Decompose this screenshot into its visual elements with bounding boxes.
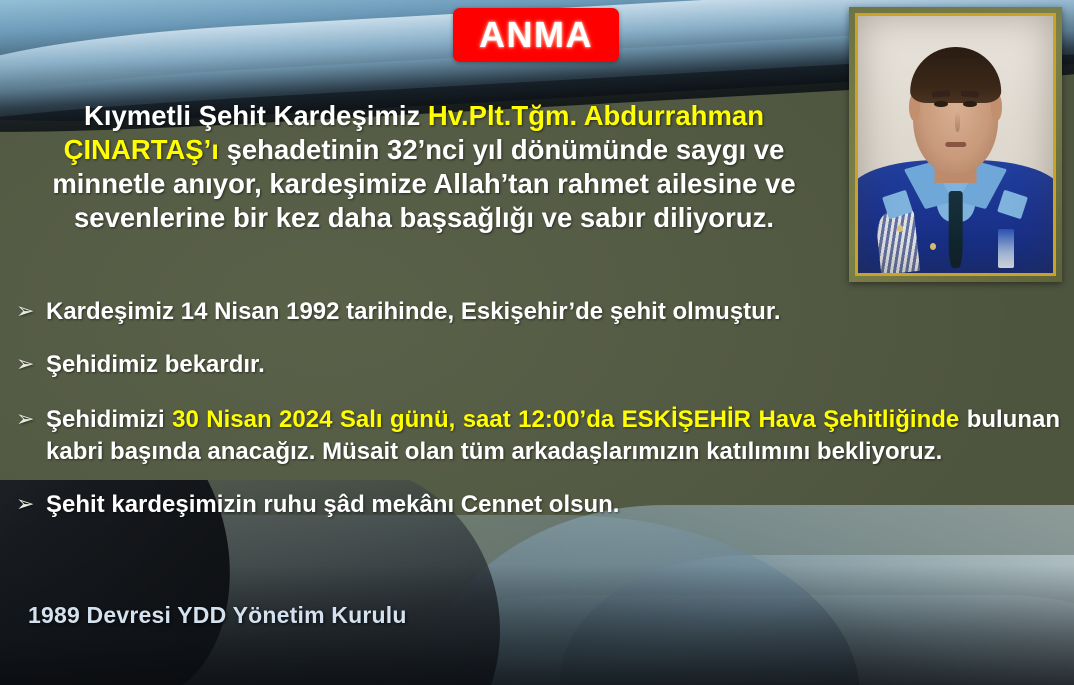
anma-badge: ANMA — [453, 8, 619, 62]
anma-badge-label: ANMA — [479, 17, 593, 53]
footer-signature: 1989 Devresi YDD Yönetim Kurulu — [28, 602, 407, 629]
lead-text-part1: Kıymetli Şehit Kardeşimiz — [84, 100, 428, 131]
portrait-photo — [858, 16, 1053, 273]
ceremony-details-highlight: 30 Nisan 2024 Salı günü, saat 12:00’da E… — [172, 406, 959, 433]
memorial-lead-paragraph: Kıymetli Şehit Kardeşimiz Hv.Plt.Tğm. Ab… — [44, 99, 804, 235]
portrait-frame — [849, 7, 1062, 282]
list-item-text: Şehidimiz bekardır. — [46, 351, 265, 378]
arrow-bullet-icon: ➢ — [16, 489, 34, 519]
list-item: ➢ Kardeşimiz 14 Nisan 1992 tarihinde, Es… — [16, 296, 1060, 327]
list-item-text: Kardeşimiz 14 Nisan 1992 tarihinde, Eski… — [46, 298, 781, 325]
arrow-bullet-icon: ➢ — [16, 296, 34, 326]
arrow-bullet-icon: ➢ — [16, 404, 34, 434]
list-item-text-part1: Şehidimizi — [46, 406, 172, 433]
arrow-bullet-icon: ➢ — [16, 349, 34, 379]
list-item-text: Şehit kardeşimizin ruhu şâd mekânı Cenne… — [46, 491, 619, 518]
list-item: ➢ Şehidimiz bekardır. — [16, 349, 1060, 380]
list-item: ➢ Şehit kardeşimizin ruhu şâd mekânı Cen… — [16, 489, 1060, 520]
memorial-bullet-list: ➢ Kardeşimiz 14 Nisan 1992 tarihinde, Es… — [16, 296, 1060, 520]
list-item: ➢ Şehidimizi 30 Nisan 2024 Salı günü, sa… — [16, 404, 1060, 466]
memorial-slide: ANMA — [0, 0, 1074, 685]
portrait-inner-border — [855, 13, 1056, 276]
